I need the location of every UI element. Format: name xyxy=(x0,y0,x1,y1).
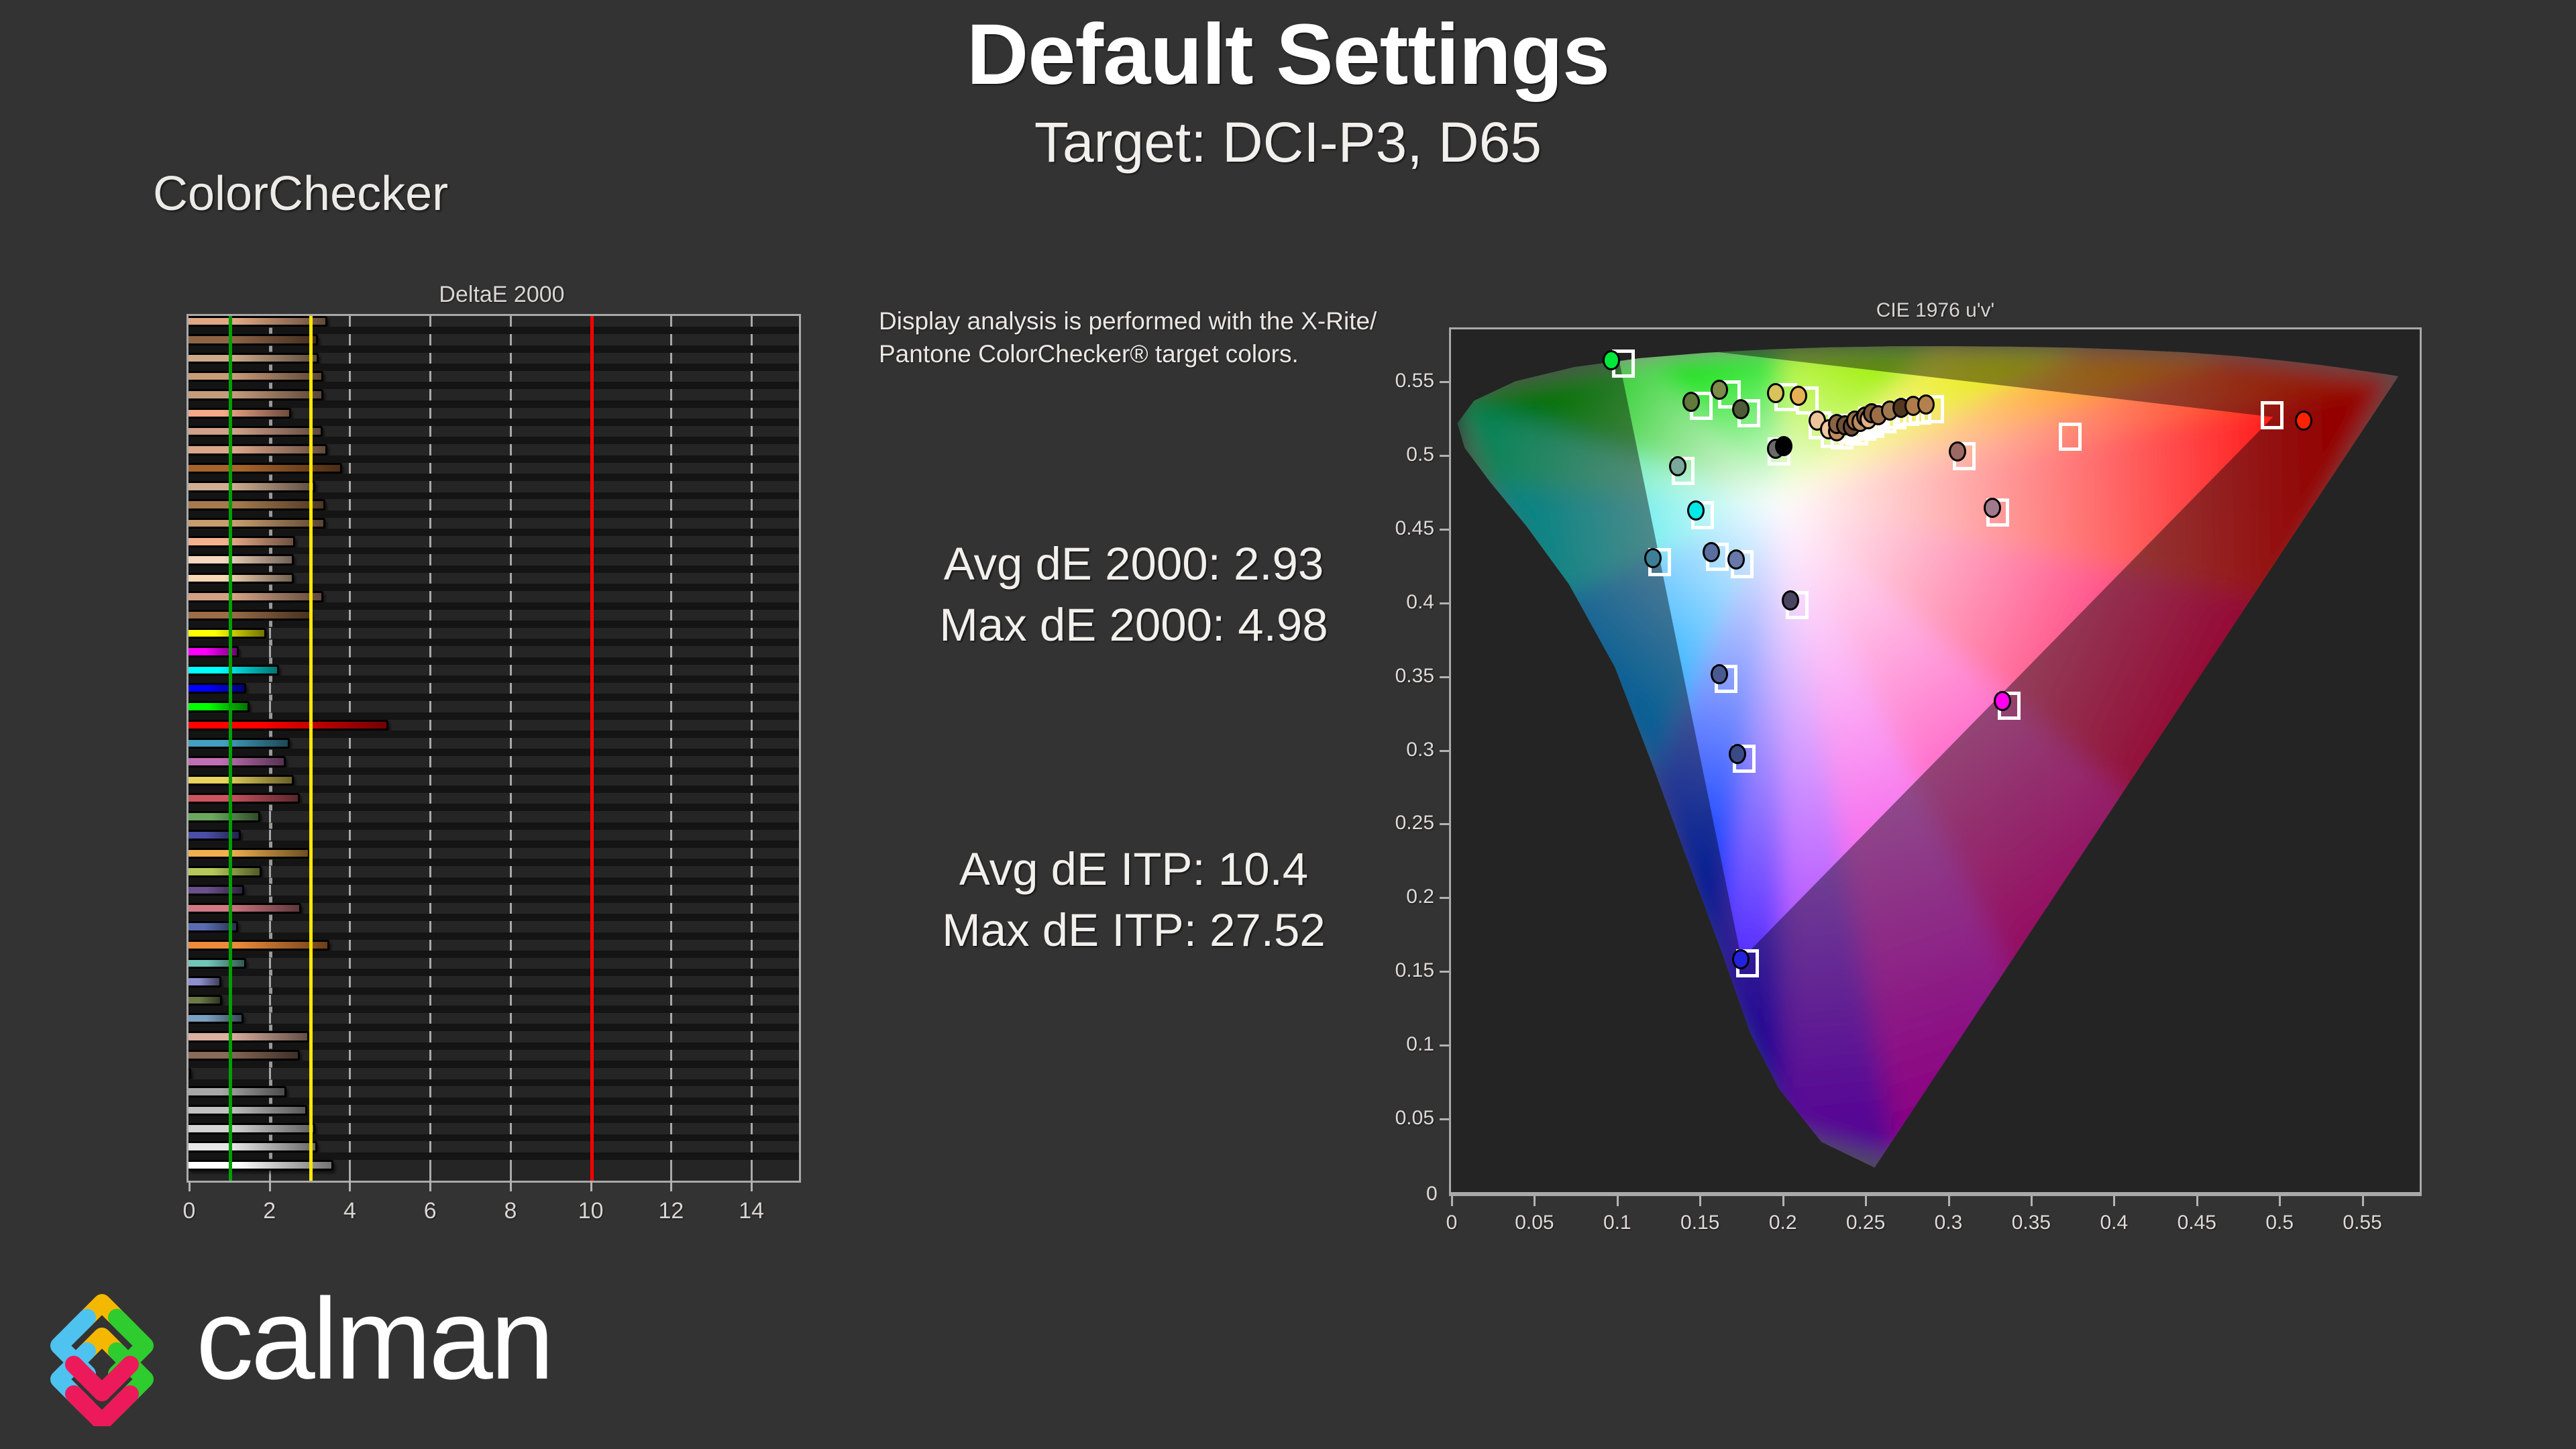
deltae-bar-separator xyxy=(189,932,799,940)
avg-de2000-value: Avg dE 2000: 2.93 xyxy=(879,533,1389,594)
deltae-bar xyxy=(189,775,294,786)
deltae-bar-row xyxy=(189,701,799,712)
deltae-bar xyxy=(189,1050,300,1061)
deltae-tick-label: 0 xyxy=(183,1198,196,1224)
deltae-bars-container xyxy=(189,316,799,1181)
deltae-bar-row xyxy=(189,976,799,987)
deltae-bar-row xyxy=(189,775,799,786)
deltae-bar-row xyxy=(189,536,799,547)
deltae-bar xyxy=(189,591,323,602)
deltae-bar-separator xyxy=(189,455,799,463)
deltae-bar xyxy=(189,903,301,914)
cie-measured-point xyxy=(1687,500,1705,521)
deltae-bar xyxy=(189,1141,317,1152)
deltae-bar-row xyxy=(189,866,799,877)
deltae-bar-separator xyxy=(189,804,799,811)
deltae-tick xyxy=(590,1181,592,1191)
cie-y-tick xyxy=(1440,381,1449,383)
cie-measured-point xyxy=(1711,664,1728,684)
deltae-bar xyxy=(189,940,329,951)
de2000-stats: Avg dE 2000: 2.93 Max dE 2000: 4.98 xyxy=(879,533,1389,655)
cie-y-tick-label: 0.2 xyxy=(1355,885,1434,908)
deltae-bar xyxy=(189,389,323,400)
calman-diamond-icon xyxy=(35,1279,169,1426)
cie-y-tick-label: 0.4 xyxy=(1355,591,1434,614)
deltae-bar xyxy=(189,665,279,676)
deltae-bar-separator xyxy=(189,767,799,775)
cie-y-tick xyxy=(1440,676,1449,678)
report-header: Default Settings Target: DCI-P3, D65 xyxy=(0,0,2576,170)
deltae-bar xyxy=(189,518,325,529)
deltae-bar-separator xyxy=(189,896,799,903)
deltae-bar xyxy=(189,463,342,474)
cie-y-tick-label: 0.25 xyxy=(1355,812,1434,835)
cie-y-tick-label: 0.05 xyxy=(1355,1107,1434,1130)
cie-x-tick xyxy=(1865,1196,1867,1206)
deltae-bar-row xyxy=(189,720,799,731)
deltae-bar-separator xyxy=(189,547,799,555)
deltae-tick-label: 8 xyxy=(504,1198,517,1224)
deltae-bar-row xyxy=(189,1050,799,1061)
deltae-bar xyxy=(189,756,286,767)
deltae-bar-separator xyxy=(189,841,799,848)
deltae-bar xyxy=(189,1068,191,1079)
cie-measured-point xyxy=(1994,691,2011,711)
cie-measured-point xyxy=(2295,411,2312,431)
deltae-bar xyxy=(189,499,325,510)
deltae-bar-row xyxy=(189,848,799,859)
cie-measured-point xyxy=(1732,949,1750,969)
colorchecker-heading: ColorChecker xyxy=(153,166,448,221)
deltae-chart-title: DeltaE 2000 xyxy=(186,282,817,308)
cie-chromaticity-chart: CIE 1976 u'v' 0 00.050.10.150.20.250.30.… xyxy=(1449,327,2449,1213)
cie-measured-point xyxy=(1984,498,2001,518)
cie-y-tick xyxy=(1440,750,1449,752)
deltae-tick-label: 4 xyxy=(343,1198,356,1224)
page-title: Default Settings xyxy=(0,0,2576,98)
deltae-bar xyxy=(189,371,323,382)
deltae-bar-separator xyxy=(189,749,799,756)
cie-target-marker xyxy=(2059,423,2082,451)
deltae-bar-separator xyxy=(189,529,799,536)
deltae-tick xyxy=(349,1181,351,1191)
deltae-bar xyxy=(189,830,241,841)
deltae-bar-separator xyxy=(189,492,799,500)
deltae-bar-separator xyxy=(189,987,799,995)
deltae-bar xyxy=(189,316,327,327)
deltae-bar-row xyxy=(189,1105,799,1116)
cie-x-tick-label: 0.5 xyxy=(2265,1212,2294,1234)
deltae-bar-separator xyxy=(189,731,799,738)
deltae-tick xyxy=(429,1181,431,1191)
deltae-bar-separator xyxy=(189,877,799,885)
deltae-bar-separator xyxy=(189,602,799,610)
deltae-bar-separator xyxy=(189,327,799,334)
deltae-bar-separator xyxy=(189,621,799,628)
calman-report-page: Default Settings Target: DCI-P3, D65 Col… xyxy=(0,0,2576,1449)
deltae-bar-separator xyxy=(189,382,799,389)
deltae-bar xyxy=(189,426,323,437)
deltae-bar-separator xyxy=(189,1116,799,1123)
deltae-bar xyxy=(189,628,266,639)
cie-x-tick xyxy=(1948,1196,1950,1206)
cie-x-tick xyxy=(2031,1196,2033,1206)
cie-y-tick-label: 0.15 xyxy=(1355,959,1434,982)
deltae-bar-row xyxy=(189,1013,799,1024)
cie-x-tick-label: 0.1 xyxy=(1603,1212,1631,1234)
cie-y-tick xyxy=(1440,971,1449,973)
deltae-bar xyxy=(189,334,318,345)
deltae-threshold-green-threshold xyxy=(229,316,232,1181)
deltae-bar-row xyxy=(189,481,799,492)
deltae-tick-label: 12 xyxy=(658,1198,684,1224)
cie-x-tick-label: 0.4 xyxy=(2100,1212,2128,1234)
deltae-bar xyxy=(189,848,310,859)
cie-target-marker xyxy=(2261,401,2284,429)
deltae-bar-row xyxy=(189,665,799,676)
deltae-bar-separator xyxy=(189,566,799,573)
deltae-bar xyxy=(189,1123,315,1134)
deltae-tick xyxy=(751,1181,753,1191)
deltae-bar-separator xyxy=(189,676,799,683)
cie-x-tick xyxy=(2362,1196,2364,1206)
cie-measured-point xyxy=(1727,549,1745,570)
deltae-bar-separator xyxy=(189,1024,799,1031)
cie-x-tick-label: 0.15 xyxy=(1680,1212,1719,1234)
deltae-bar xyxy=(189,976,221,987)
deltae-tick-label: 2 xyxy=(263,1198,276,1224)
max-deitp-value: Max dE ITP: 27.52 xyxy=(879,900,1389,961)
deltae-bar-row xyxy=(189,793,799,804)
deltae-tick-label: 6 xyxy=(424,1198,437,1224)
cie-measured-point xyxy=(1682,392,1700,412)
cie-measured-point xyxy=(1729,744,1746,764)
deltae-bar-row xyxy=(189,610,799,621)
deltae-bar-separator xyxy=(189,511,799,518)
deltae-bar-row xyxy=(189,316,799,327)
deltae-bar-separator xyxy=(189,786,799,793)
cie-y-tick xyxy=(1440,602,1449,604)
cie-x-tick xyxy=(2196,1196,2198,1206)
cie-measured-point xyxy=(1703,542,1720,562)
cie-measured-point xyxy=(1775,436,1792,456)
deltae-bar xyxy=(189,793,300,804)
cie-x-axis xyxy=(1449,1194,2422,1196)
deltae-bar-row xyxy=(189,921,799,932)
cie-measured-point xyxy=(1782,590,1799,610)
deltae-bar-separator xyxy=(189,1134,799,1142)
deltae-tick xyxy=(189,1181,191,1191)
page-subtitle: Target: DCI-P3, D65 xyxy=(0,98,2576,170)
cie-measured-point xyxy=(1669,456,1686,476)
deltae-bar-row xyxy=(189,573,799,584)
deltae-bar-row xyxy=(189,389,799,400)
deltae-bar xyxy=(189,1031,309,1042)
deltae-bar xyxy=(189,958,246,969)
deltae-bar-separator xyxy=(189,712,799,720)
cie-y-tick xyxy=(1440,897,1449,899)
deltae-bar xyxy=(189,683,246,694)
deltae-bar xyxy=(189,866,262,877)
deitp-stats: Avg dE ITP: 10.4 Max dE ITP: 27.52 xyxy=(879,839,1389,961)
cie-x-tick-label: 0.25 xyxy=(1846,1212,1885,1234)
deltae-bar-chart: DeltaE 2000 02468101214 xyxy=(186,314,817,1206)
max-de2000-value: Max dE 2000: 4.98 xyxy=(879,594,1389,655)
cie-y-tick xyxy=(1440,823,1449,825)
cie-x-tick-label: 0.45 xyxy=(2178,1212,2216,1234)
deltae-bar xyxy=(189,481,315,492)
cie-origin-label: 0 xyxy=(1426,1183,1438,1205)
deltae-bar-row xyxy=(189,518,799,529)
deltae-bar-separator xyxy=(189,437,799,444)
cie-measured-point xyxy=(1711,380,1728,400)
deltae-bar-separator xyxy=(189,1097,799,1105)
cie-x-tick xyxy=(1534,1196,1536,1206)
cie-x-tick xyxy=(1617,1196,1619,1206)
cie-y-tick xyxy=(1440,1118,1449,1120)
deltae-bar xyxy=(189,885,244,896)
deltae-bar-row xyxy=(189,940,799,951)
deltae-bar-row xyxy=(189,1123,799,1134)
cie-measured-point xyxy=(1949,441,1966,462)
deltae-bar-row xyxy=(189,591,799,602)
cie-measured-point xyxy=(1732,399,1750,419)
deltae-tick-label: 10 xyxy=(578,1198,604,1224)
deltae-bar xyxy=(189,720,388,731)
deltae-bar-separator xyxy=(189,584,799,591)
deltae-x-axis xyxy=(186,1181,801,1183)
deltae-bar-separator xyxy=(189,657,799,665)
deltae-bar-separator xyxy=(189,969,799,976)
cie-x-tick-label: 0.3 xyxy=(1935,1212,1963,1234)
deltae-bar-row xyxy=(189,463,799,474)
deltae-tick-label: 14 xyxy=(739,1198,764,1224)
cie-y-tick-label: 0.1 xyxy=(1355,1033,1434,1056)
deltae-bar-separator xyxy=(189,639,799,646)
deltae-bar xyxy=(189,444,327,455)
deltae-bar-separator xyxy=(189,1079,799,1087)
analysis-disclaimer: Display analysis is performed with the X… xyxy=(879,305,1389,371)
cie-x-tick-label: 0.55 xyxy=(2343,1212,2381,1234)
cie-y-tick-label: 0.55 xyxy=(1355,370,1434,392)
deltae-bar-row xyxy=(189,1160,799,1171)
cie-y-tick-label: 0.45 xyxy=(1355,517,1434,540)
cie-gamut-svg xyxy=(1451,329,2420,1192)
cie-plot-area xyxy=(1449,327,2422,1194)
deltae-bar-separator xyxy=(189,474,799,481)
deltae-bar-row xyxy=(189,811,799,822)
deltae-plot-area xyxy=(186,314,801,1181)
deltae-bar xyxy=(189,573,294,584)
deltae-tick xyxy=(269,1181,271,1191)
cie-measured-point xyxy=(1603,350,1620,370)
deltae-bar-separator xyxy=(189,364,799,371)
deltae-threshold-yellow-threshold xyxy=(309,316,313,1181)
deltae-bar-separator xyxy=(189,345,799,353)
deltae-bar-separator xyxy=(189,1061,799,1068)
deltae-bar-separator xyxy=(189,822,799,830)
cie-measured-point xyxy=(1644,548,1662,568)
deltae-bar-row xyxy=(189,903,799,914)
deltae-bar xyxy=(189,1086,286,1097)
deltae-bar-separator xyxy=(189,859,799,866)
deltae-bar xyxy=(189,738,290,749)
cie-y-tick-label: 0.5 xyxy=(1355,443,1434,466)
deltae-bar-separator xyxy=(189,694,799,701)
deltae-tick xyxy=(670,1181,672,1191)
cie-x-tick xyxy=(1699,1196,1701,1206)
calman-wordmark: calman xyxy=(196,1281,551,1397)
deltae-bar-row xyxy=(189,1068,799,1079)
deltae-bar-row xyxy=(189,830,799,841)
deltae-bar xyxy=(189,536,295,547)
deltae-bar-separator xyxy=(189,419,799,426)
deltae-bar-row xyxy=(189,683,799,694)
cie-x-tick-label: 0.35 xyxy=(2012,1212,2051,1234)
deltae-bar xyxy=(189,610,311,621)
deltae-tick xyxy=(510,1181,512,1191)
deltae-bar xyxy=(189,408,291,419)
deltae-bar xyxy=(189,701,250,712)
deltae-bar-row xyxy=(189,444,799,455)
deltae-bar-row xyxy=(189,1031,799,1042)
avg-deitp-value: Avg dE ITP: 10.4 xyxy=(879,839,1389,900)
cie-y-tick xyxy=(1440,1044,1449,1046)
cie-measured-point xyxy=(1790,386,1807,406)
cie-y-tick xyxy=(1440,529,1449,531)
cie-x-tick-label: 0.05 xyxy=(1515,1212,1554,1234)
cie-y-tick-label: 0.3 xyxy=(1355,739,1434,761)
deltae-bar-row xyxy=(189,646,799,657)
deltae-bar-separator xyxy=(189,400,799,408)
deltae-bar-separator xyxy=(189,951,799,958)
cie-measured-point xyxy=(1917,394,1935,415)
deltae-bar-row xyxy=(189,958,799,969)
deltae-bar xyxy=(189,554,294,565)
deltae-bar-row xyxy=(189,554,799,565)
deltae-bar-row xyxy=(189,1141,799,1152)
deltae-threshold-red-threshold xyxy=(590,316,594,1181)
cie-x-tick xyxy=(2113,1196,2115,1206)
deltae-bar xyxy=(189,811,260,822)
deltae-bar xyxy=(189,1105,307,1116)
deltae-bar xyxy=(189,1013,244,1024)
deltae-bar-row xyxy=(189,885,799,896)
middle-info-panel: Display analysis is performed with the X… xyxy=(879,305,1389,371)
cie-y-tick-label: 0.35 xyxy=(1355,665,1434,688)
cie-x-tick-label: 0.2 xyxy=(1769,1212,1797,1234)
cie-x-tick-label: 0 xyxy=(1446,1212,1458,1234)
cie-chart-title: CIE 1976 u'v' xyxy=(1449,299,2422,322)
deltae-bar-row xyxy=(189,628,799,639)
deltae-bar-row xyxy=(189,408,799,419)
deltae-bar-row xyxy=(189,499,799,510)
cie-y-tick xyxy=(1440,455,1449,457)
calman-logo: calman xyxy=(35,1275,706,1429)
deltae-bar-row xyxy=(189,426,799,437)
deltae-bar-row xyxy=(189,756,799,767)
deltae-bar-row xyxy=(189,738,799,749)
deltae-bar-row xyxy=(189,334,799,345)
deltae-bar xyxy=(189,995,222,1006)
cie-x-tick xyxy=(1782,1196,1784,1206)
deltae-bar-row xyxy=(189,1086,799,1097)
cie-x-tick xyxy=(1451,1196,1453,1206)
cie-x-tick xyxy=(2279,1196,2281,1206)
deltae-bar-separator xyxy=(189,1006,799,1013)
deltae-bar-separator xyxy=(189,914,799,921)
deltae-bar-row xyxy=(189,353,799,364)
cie-measured-point xyxy=(1767,383,1784,403)
deltae-bar-row xyxy=(189,371,799,382)
deltae-bar-row xyxy=(189,995,799,1006)
deltae-bar xyxy=(189,353,319,364)
deltae-bar-separator xyxy=(189,1152,799,1160)
deltae-bar-separator xyxy=(189,1042,799,1050)
